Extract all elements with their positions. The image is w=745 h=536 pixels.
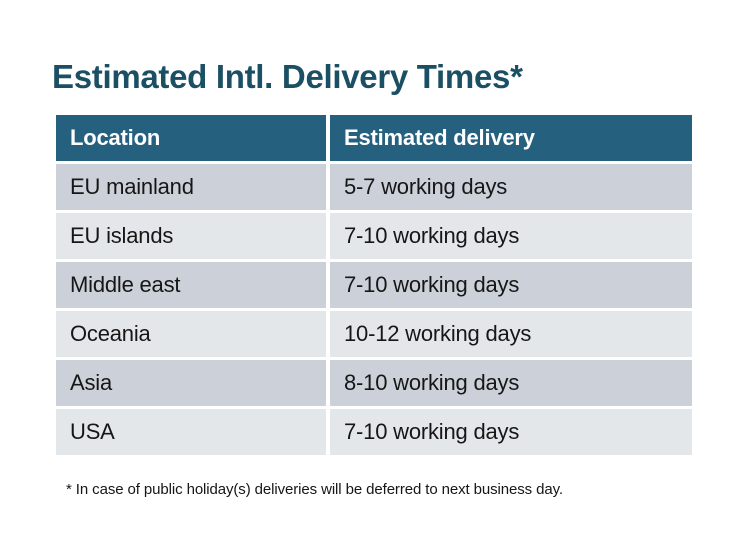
table-header-row: Location Estimated delivery [56,115,692,161]
table-row: Asia 8-10 working days [56,360,692,406]
footnote: * In case of public holiday(s) deliverie… [66,481,563,498]
estimated-delivery-times-table: Location Estimated delivery EU mainland … [52,112,696,458]
cell-delivery: 5-7 working days [330,164,692,210]
table-row: Oceania 10-12 working days [56,311,692,357]
page-title: Estimated Intl. Delivery Times* [52,58,523,96]
cell-delivery: 7-10 working days [330,213,692,259]
cell-location: Oceania [56,311,326,357]
cell-delivery: 7-10 working days [330,262,692,308]
cell-delivery: 8-10 working days [330,360,692,406]
cell-location: EU mainland [56,164,326,210]
cell-location: EU islands [56,213,326,259]
column-header-location: Location [56,115,326,161]
table-row: EU mainland 5-7 working days [56,164,692,210]
table-row: Middle east 7-10 working days [56,262,692,308]
delivery-times-page: Estimated Intl. Delivery Times* Location… [0,0,745,536]
table-row: EU islands 7-10 working days [56,213,692,259]
cell-location: USA [56,409,326,455]
table-row: USA 7-10 working days [56,409,692,455]
cell-delivery: 10-12 working days [330,311,692,357]
column-header-estimated-delivery: Estimated delivery [330,115,692,161]
cell-location: Middle east [56,262,326,308]
cell-location: Asia [56,360,326,406]
cell-delivery: 7-10 working days [330,409,692,455]
